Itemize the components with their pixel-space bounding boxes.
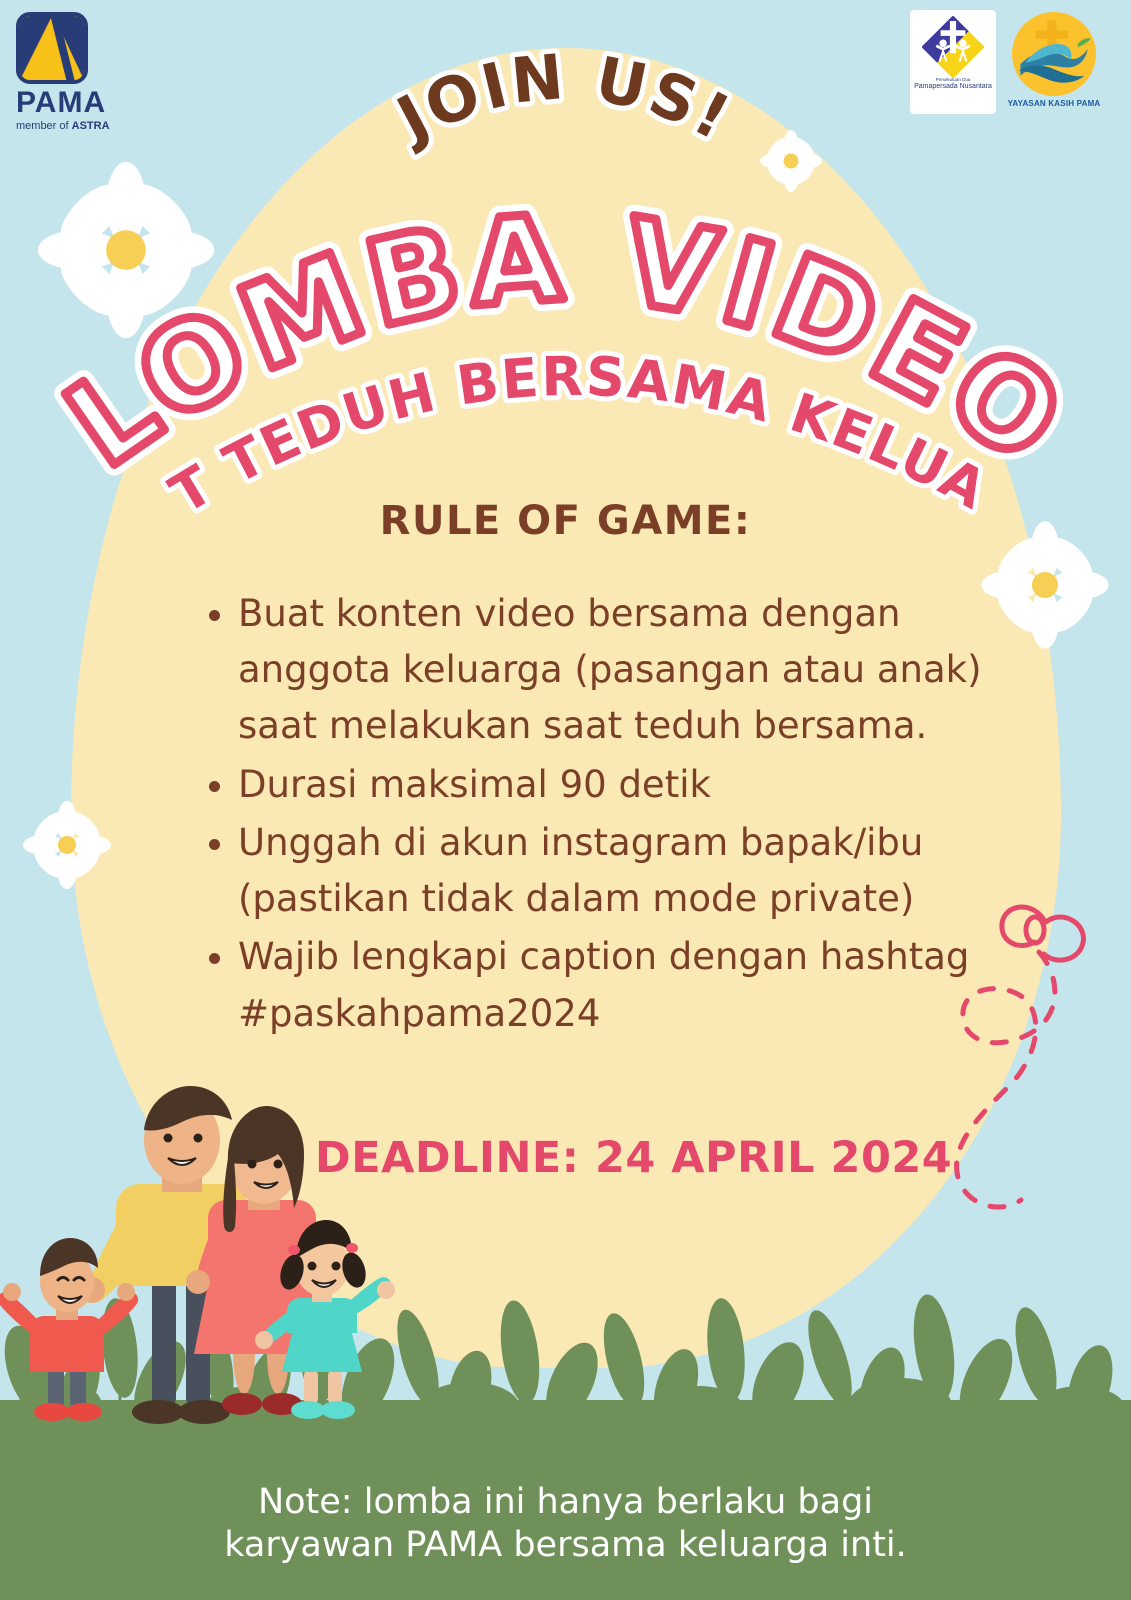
poster-canvas: PAMA member of ASTRA Persek [0,0,1131,1600]
deadline-text: DEADLINE: 24 APRIL 2024 [315,1133,952,1183]
title-block: LOMBA VIDEO LOMBA VIDEO SAAT TEDUH BERSA… [0,120,1131,540]
footer-note: Note: lomba ini hanya berlaku bagi karya… [0,1481,1131,1569]
persekutuan-doa-logo: Persekutuan Doa Pamapersada Nusantara [910,10,996,114]
rules-list: Buat konten video bersama dengan anggota… [196,586,1016,1044]
persekutuan-doa-line2: Pamapersada Nusantara [914,83,992,90]
list-item: Wajib lengkapi caption dengan hashtag #p… [238,929,1016,1041]
yayasan-dove-icon [1012,12,1096,96]
persekutuan-doa-caption: Persekutuan Doa Pamapersada Nusantara [914,78,992,90]
pama-logo: PAMA member of ASTRA [16,12,120,133]
list-item: Buat konten video bersama dengan anggota… [238,586,1016,755]
family-illustration [0,1054,420,1454]
list-item: Durasi maksimal 90 detik [238,757,1016,813]
pama-tagline-prefix: member of [16,120,72,132]
footer-note-line2: karyawan PAMA bersama keluarga inti. [0,1524,1131,1568]
footer-note-line1: Note: lomba ini hanya berlaku bagi [0,1481,1131,1525]
rules-heading: RULE OF GAME: [0,498,1131,544]
persekutuan-doa-mark-icon [922,16,984,78]
yayasan-caption: YAYASAN KASIH PAMA [1006,99,1102,108]
yayasan-kasih-pama-logo: YAYASAN KASIH PAMA [1006,12,1102,108]
pama-logo-name: PAMA [16,88,120,118]
daisy-flower-icon [22,800,112,890]
pama-tagline-brand: ASTRA [72,120,110,132]
list-item: Unggah di akun instagram bapak/ibu (past… [238,815,1016,927]
pama-logo-tagline: member of ASTRA [16,120,120,133]
pama-mark-icon [16,12,88,84]
